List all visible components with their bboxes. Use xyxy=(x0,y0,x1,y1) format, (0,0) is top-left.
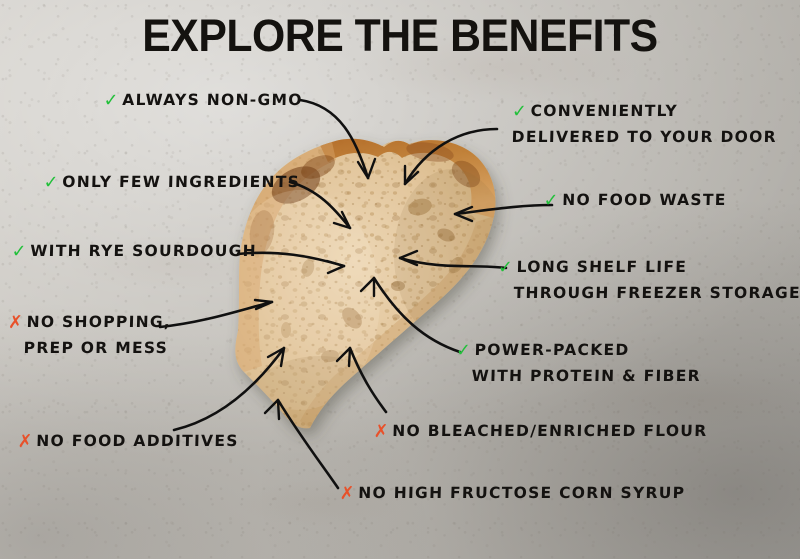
benefit-label-no-shopping[interactable]: ✗NO SHOPPING, PREP OR MESS xyxy=(7,310,171,361)
benefit-text-line2: WITH PROTEIN & FIBER xyxy=(455,364,701,389)
benefit-label-nongmo[interactable]: ✓ALWAYS NON-GMO xyxy=(104,88,303,114)
benefit-text: ALWAYS NON-GMO xyxy=(122,91,303,109)
check-icon: ✓ xyxy=(544,188,559,214)
benefit-label-rye-sourdough[interactable]: ✓WITH RYE SOURDOUGH xyxy=(12,239,258,265)
infographic-poster: EXPLORE THE BENEFITS xyxy=(0,0,800,559)
page-title: EXPLORE THE BENEFITS xyxy=(20,13,780,58)
benefit-text: NO FOOD WASTE xyxy=(562,191,727,209)
benefit-label-no-additives[interactable]: ✗NO FOOD ADDITIVES xyxy=(18,429,239,455)
benefit-text: CONVENIENTLY xyxy=(530,102,678,120)
benefit-label-no-corn-syrup[interactable]: ✗NO HIGH FRUCTOSE CORN SYRUP xyxy=(340,481,686,507)
benefit-text: NO FOOD ADDITIVES xyxy=(36,432,239,450)
benefit-text: NO HIGH FRUCTOSE CORN SYRUP xyxy=(358,484,685,502)
cross-icon: ✗ xyxy=(340,481,355,507)
check-icon: ✓ xyxy=(456,338,471,364)
benefit-label-power-packed[interactable]: ✓POWER-PACKED WITH PROTEIN & FIBER xyxy=(455,338,702,389)
benefit-text-line2: PREP OR MESS xyxy=(7,336,170,361)
check-icon: ✓ xyxy=(44,170,59,196)
check-icon: ✓ xyxy=(498,255,513,281)
benefit-text: WITH RYE SOURDOUGH xyxy=(30,242,257,260)
benefit-label-ingredients[interactable]: ✓ONLY FEW INGREDIENTS xyxy=(44,170,301,196)
check-icon: ✓ xyxy=(512,99,527,125)
benefit-text: POWER-PACKED xyxy=(474,341,629,359)
benefit-text-line2: DELIVERED TO YOUR DOOR xyxy=(511,125,777,150)
check-icon: ✓ xyxy=(12,239,27,265)
benefit-label-long-shelf-life[interactable]: ✓LONG SHELF LIFE THROUGH FREEZER STORAGE xyxy=(497,255,800,306)
check-icon: ✓ xyxy=(104,88,119,114)
cross-icon: ✗ xyxy=(374,419,389,445)
cross-icon: ✗ xyxy=(18,429,33,455)
cross-icon: ✗ xyxy=(8,310,23,336)
benefit-label-delivered[interactable]: ✓CONVENIENTLY DELIVERED TO YOUR DOOR xyxy=(511,99,777,150)
benefit-text: NO SHOPPING, xyxy=(26,313,171,331)
benefit-text: ONLY FEW INGREDIENTS xyxy=(62,173,300,191)
benefit-label-no-food-waste[interactable]: ✓NO FOOD WASTE xyxy=(544,188,727,214)
benefit-text: NO BLEACHED/ENRICHED FLOUR xyxy=(392,422,708,440)
benefit-label-no-bleached-flour[interactable]: ✗NO BLEACHED/ENRICHED FLOUR xyxy=(374,419,708,445)
benefit-text: LONG SHELF LIFE xyxy=(516,258,687,276)
benefit-text-line2: THROUGH FREEZER STORAGE xyxy=(497,281,800,306)
